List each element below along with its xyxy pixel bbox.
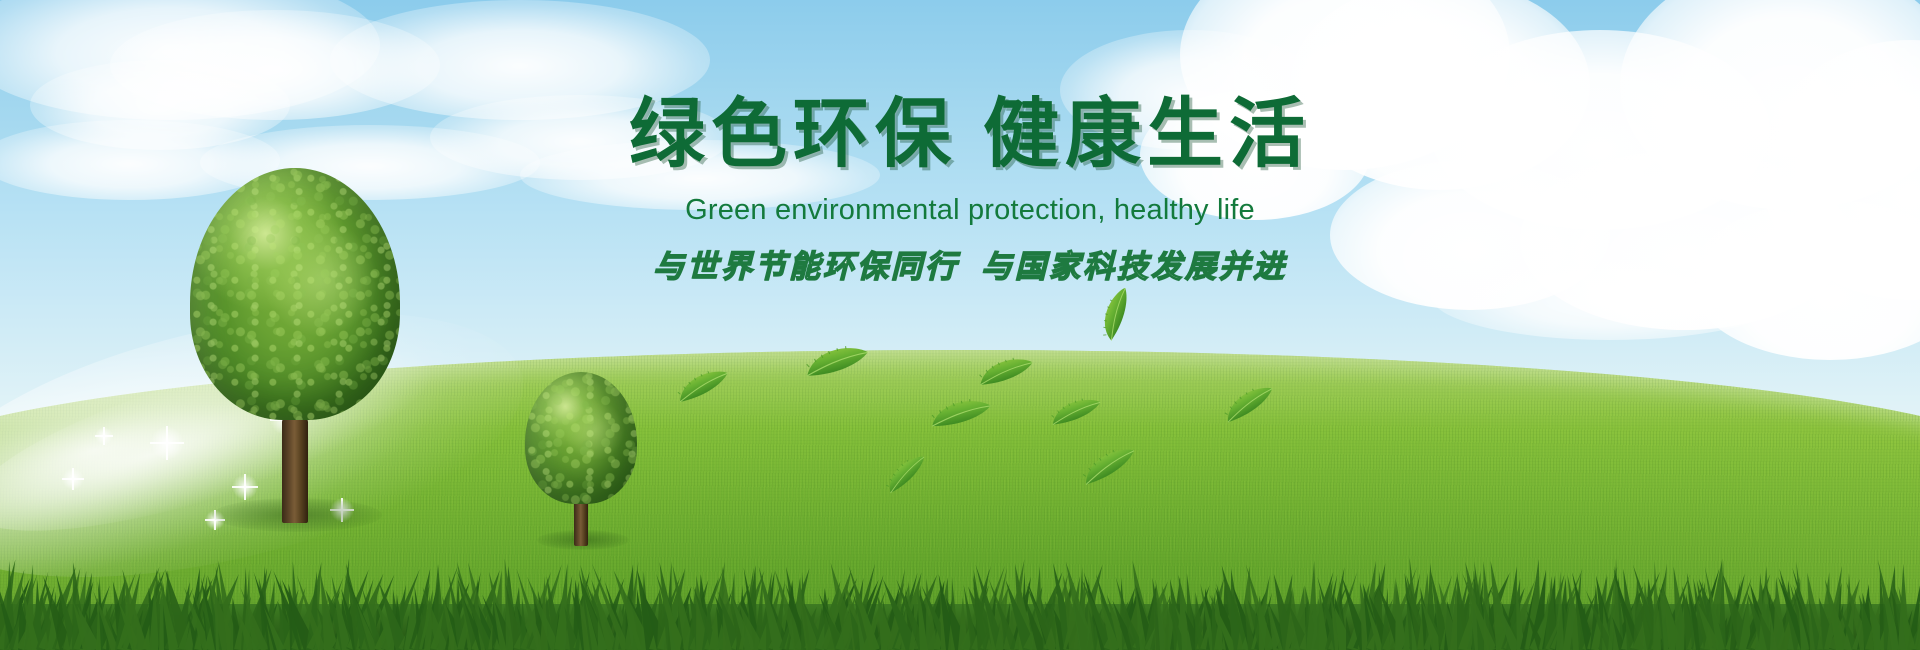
small-tree: [525, 372, 637, 552]
headline-block: 绿色环保健康生活 Green environmental protection,…: [620, 96, 1320, 286]
headline-part-1: 绿色环保: [629, 89, 957, 178]
large-tree: [190, 168, 400, 528]
cloud-wisp: [1430, 250, 1790, 340]
chinese-tagline: 与世界节能环保同行与国家科技发展并进: [620, 241, 1320, 286]
english-subtitle: Green environmental protection, healthy …: [620, 194, 1320, 227]
tree-canopy: [525, 372, 637, 504]
canopy-texture: [190, 168, 400, 420]
tagline-part-2: 与国家科技发展并进: [981, 249, 1287, 285]
tree-trunk: [282, 418, 308, 523]
headline-part-2: 健康生活: [983, 89, 1311, 178]
eco-hero-banner: 绿色环保健康生活 Green environmental protection,…: [0, 0, 1920, 650]
grass-border: [0, 558, 1920, 650]
tagline-part-1: 与世界节能环保同行: [653, 249, 959, 285]
tree-canopy: [190, 168, 400, 420]
page-title: 绿色环保健康生活: [620, 96, 1320, 172]
canopy-texture: [525, 372, 637, 504]
